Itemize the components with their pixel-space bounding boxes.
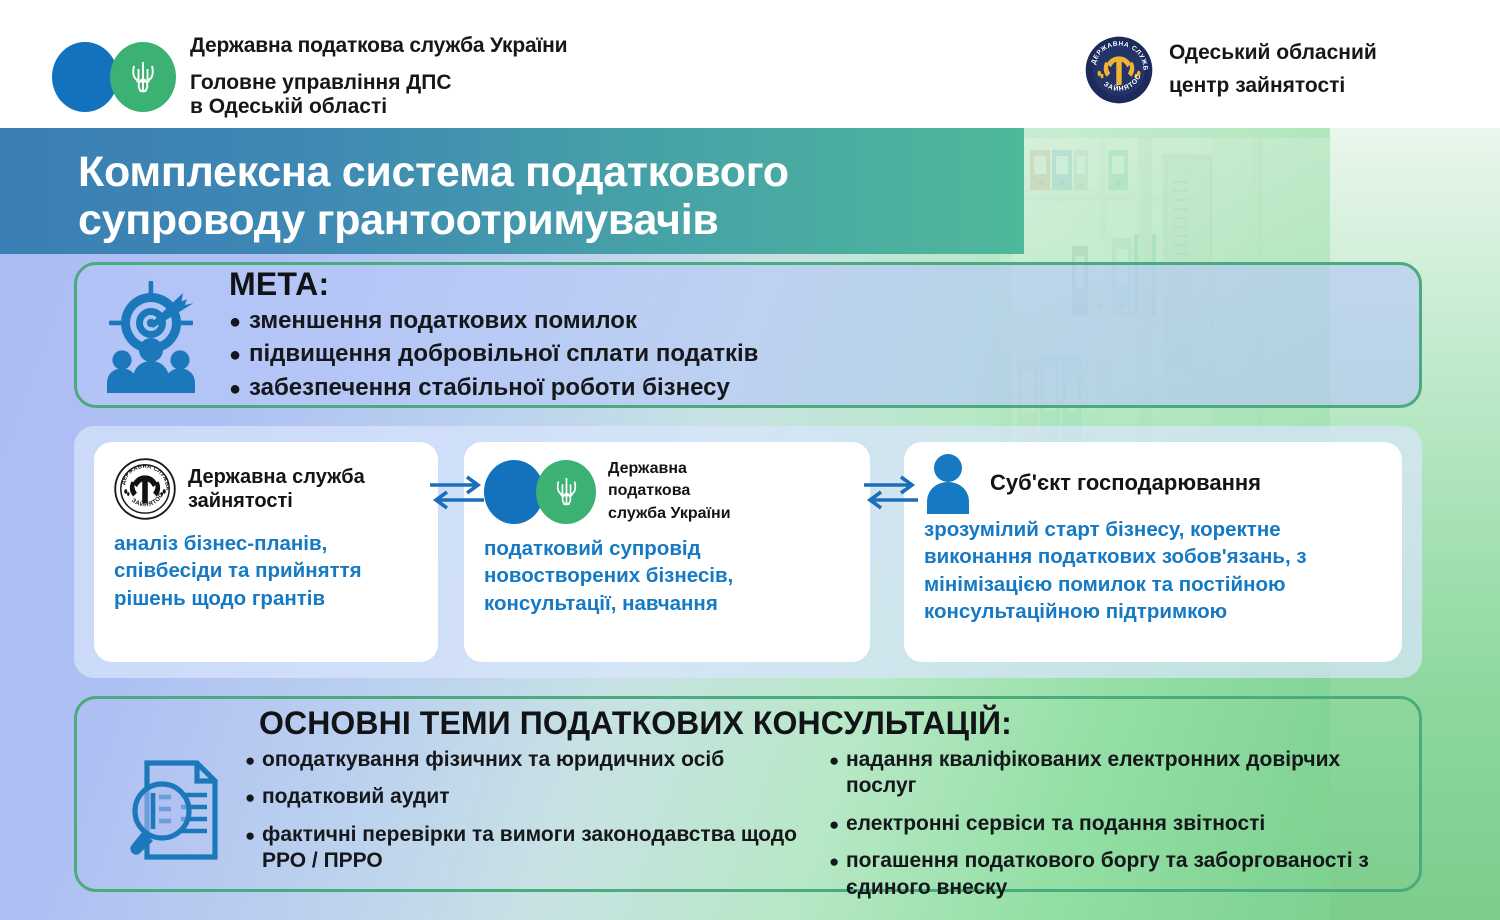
employment-title-line-1: Одеський обласний	[1169, 37, 1377, 70]
flow-card-title: Державна податкова служба України	[608, 458, 731, 525]
flow-card-title-line3: служба України	[608, 503, 731, 525]
dps-logo	[52, 42, 178, 112]
list-item: ● фактичні перевірки та вимоги законодав…	[245, 822, 821, 875]
goal-heading: МЕТА:	[229, 266, 1419, 303]
topic-text: фактичні перевірки та вимоги законодавст…	[262, 822, 821, 875]
goal-box: МЕТА: ● зменшення податкових помилок ● п…	[74, 262, 1422, 408]
bullet-icon: ●	[829, 814, 846, 835]
list-item: ● податковий аудит	[245, 784, 821, 810]
list-item: ● надання кваліфікованих електронних дов…	[829, 747, 1401, 800]
topic-text: податковий аудит	[262, 784, 450, 810]
flow-card-title: Державна служба зайнятості	[188, 465, 365, 513]
flow-cards-container: ДЕРЖАВНА СЛУЖБА ЗАЙНЯТОСТІ Державна служ…	[74, 426, 1422, 678]
dps-title-line-2: Головне управління ДПС в Одеській област…	[190, 71, 567, 120]
bullet-icon: ●	[245, 825, 262, 846]
exchange-arrow-icon-left	[428, 472, 486, 517]
topic-text: електронні сервіси та подання звітності	[846, 811, 1265, 837]
trident-green-circle-icon	[110, 42, 176, 112]
topics-column-left: ● оподаткування фізичних та юридичних ос…	[245, 747, 821, 912]
title-banner: Комплексна система податкового супроводу…	[0, 128, 1024, 254]
infographic-canvas: Державна податкова служба України Головн…	[0, 0, 1500, 920]
page-header: Державна податкова служба України Головн…	[0, 0, 1500, 128]
list-item: ● забезпечення стабільної роботи бізнесу	[229, 371, 1419, 404]
topic-text: надання кваліфікованих електронних довір…	[846, 747, 1401, 800]
list-item: ● електронні сервіси та подання звітност…	[829, 811, 1401, 837]
employment-center-branding: ДЕРЖАВНА СЛУЖБА ЗАЙНЯТОСТІ Одеський обла…	[1085, 36, 1377, 104]
dps-title-line-1: Державна податкова служба України	[190, 34, 567, 58]
page-title: Комплексна система податкового супроводу…	[78, 148, 998, 244]
topic-text: погашення податкового боргу та заборгова…	[846, 848, 1401, 901]
bullet-icon: ●	[829, 851, 846, 872]
bullet-icon: ●	[245, 787, 262, 808]
flow-card-description: аналіз бізнес-планів, співбесіди та прий…	[94, 520, 438, 612]
bullet-icon: ●	[829, 750, 846, 771]
employment-title-line-2: центр зайнятості	[1169, 70, 1377, 103]
list-item: ● погашення податкового боргу та заборго…	[829, 848, 1401, 901]
employment-service-emblem-icon: ДЕРЖАВНА СЛУЖБА ЗАЙНЯТОСТІ	[1085, 36, 1153, 104]
flow-card-title-line2: зайнятості	[188, 489, 365, 513]
employment-service-emblem-mono-icon: ДЕРЖАВНА СЛУЖБА ЗАЙНЯТОСТІ	[114, 458, 176, 520]
flow-card-title-line1: Державна	[608, 458, 731, 480]
flow-card-description: податковий супровід новостворених бізнес…	[464, 525, 870, 617]
document-with-magnifier-icon	[119, 751, 237, 874]
target-with-arrow-and-people-icon	[77, 277, 225, 393]
bullet-icon: ●	[229, 342, 249, 370]
flow-card-tax-service: Державна податкова служба України податк…	[464, 442, 870, 662]
trident-green-circle-icon	[536, 460, 596, 524]
flow-card-description: зрозумілий старт бізнесу, коректне викон…	[904, 514, 1402, 625]
goal-item-text: забезпечення стабільної роботи бізнесу	[249, 371, 730, 404]
bullet-icon: ●	[245, 750, 262, 771]
bullet-icon: ●	[229, 376, 249, 404]
dps-branding: Державна податкова служба України Головн…	[52, 34, 567, 120]
flow-card-business-entity: Суб'єкт господарювання зрозумілий старт …	[904, 442, 1402, 662]
goal-item-text: підвищення добровільної сплати податків	[249, 337, 758, 370]
blue-circle-icon	[52, 42, 118, 112]
list-item: ● зменшення податкових помилок	[229, 304, 1419, 337]
topic-text: оподаткування фізичних та юридичних осіб	[262, 747, 724, 773]
list-item: ● підвищення добровільної сплати податкі…	[229, 337, 1419, 370]
bullet-icon: ●	[229, 309, 249, 337]
flow-card-employment-service: ДЕРЖАВНА СЛУЖБА ЗАЙНЯТОСТІ Державна служ…	[94, 442, 438, 662]
consultation-topics-heading: ОСНОВНІ ТЕМИ ПОДАТКОВИХ КОНСУЛЬТАЦІЙ:	[259, 705, 1012, 742]
blue-circle-icon	[484, 460, 544, 524]
person-icon	[924, 452, 972, 514]
goal-item-text: зменшення податкових помилок	[249, 304, 637, 337]
dps-title-line-2b: в Одеській області	[190, 95, 567, 119]
flow-card-title-line2: податкова	[608, 480, 731, 502]
dps-two-circles-trident-icon	[484, 460, 596, 524]
flow-card-title-line1: Державна служба	[188, 465, 365, 489]
flow-card-title: Суб'єкт господарювання	[990, 470, 1261, 496]
dps-title-line-2a: Головне управління ДПС	[190, 71, 567, 95]
consultation-topics-box: ОСНОВНІ ТЕМИ ПОДАТКОВИХ КОНСУЛЬТАЦІЙ:	[74, 696, 1422, 892]
list-item: ● оподаткування фізичних та юридичних ос…	[245, 747, 821, 773]
exchange-arrow-icon-right	[862, 472, 920, 517]
goal-list: ● зменшення податкових помилок ● підвище…	[229, 304, 1419, 404]
topics-column-right: ● надання кваліфікованих електронних дов…	[821, 747, 1401, 912]
